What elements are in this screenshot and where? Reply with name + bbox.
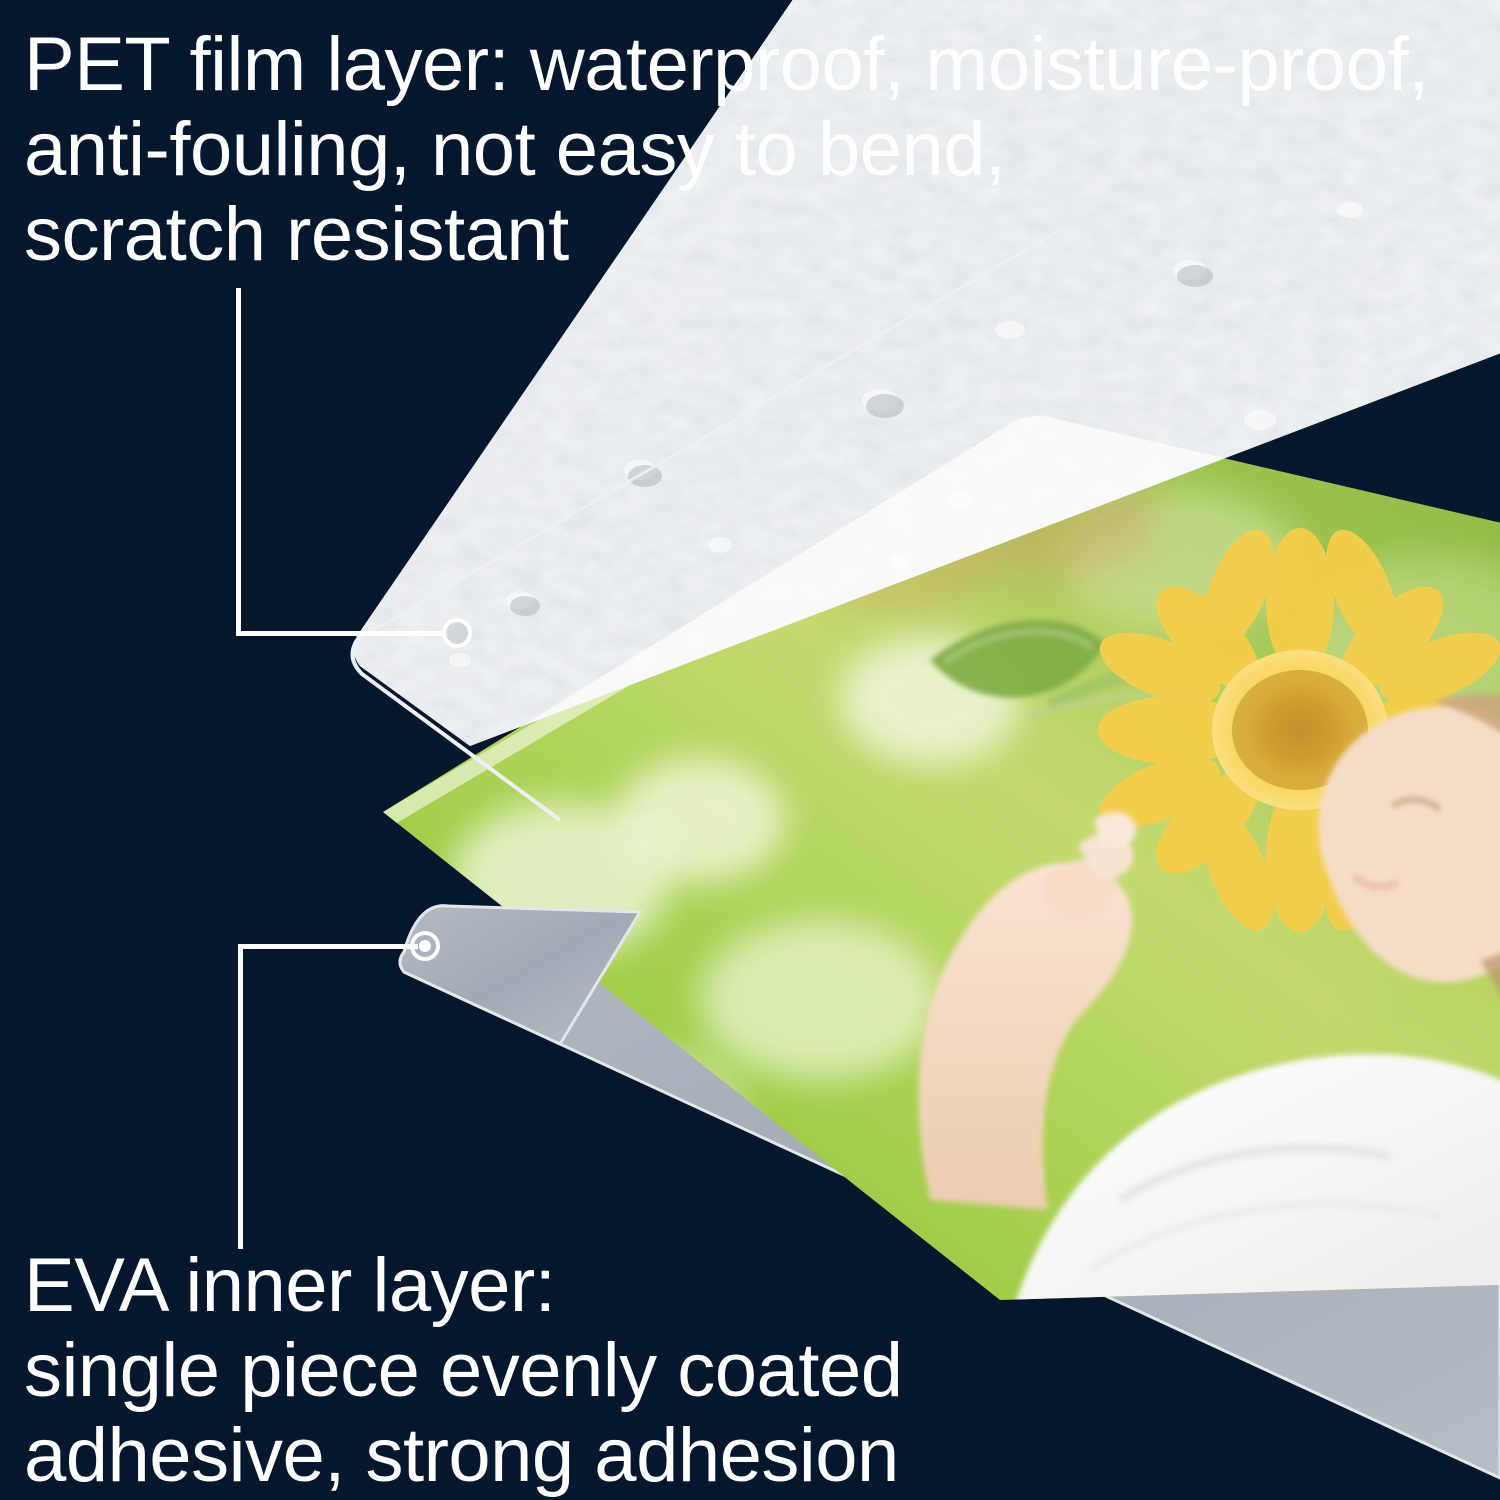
callout-line-horizontal: [238, 944, 418, 949]
callout-ring-marker-icon: [442, 618, 472, 648]
pet-film-layer-caption: PET film layer: waterproof, moisture-pro…: [24, 22, 1429, 277]
callout-line-vertical: [238, 944, 243, 1249]
callout-ring-marker-icon: [410, 931, 440, 961]
callout-ring-dot-icon: [419, 940, 431, 952]
callout-line-vertical: [236, 288, 241, 636]
pet-film-callout: [236, 288, 476, 640]
eva-inner-layer-caption: EVA inner layer: single piece evenly coa…: [24, 1243, 902, 1498]
infographic-canvas: PET film layer: waterproof, moisture-pro…: [0, 0, 1500, 1500]
callout-line-horizontal: [236, 631, 448, 636]
eva-layer-callout: [238, 944, 438, 1254]
